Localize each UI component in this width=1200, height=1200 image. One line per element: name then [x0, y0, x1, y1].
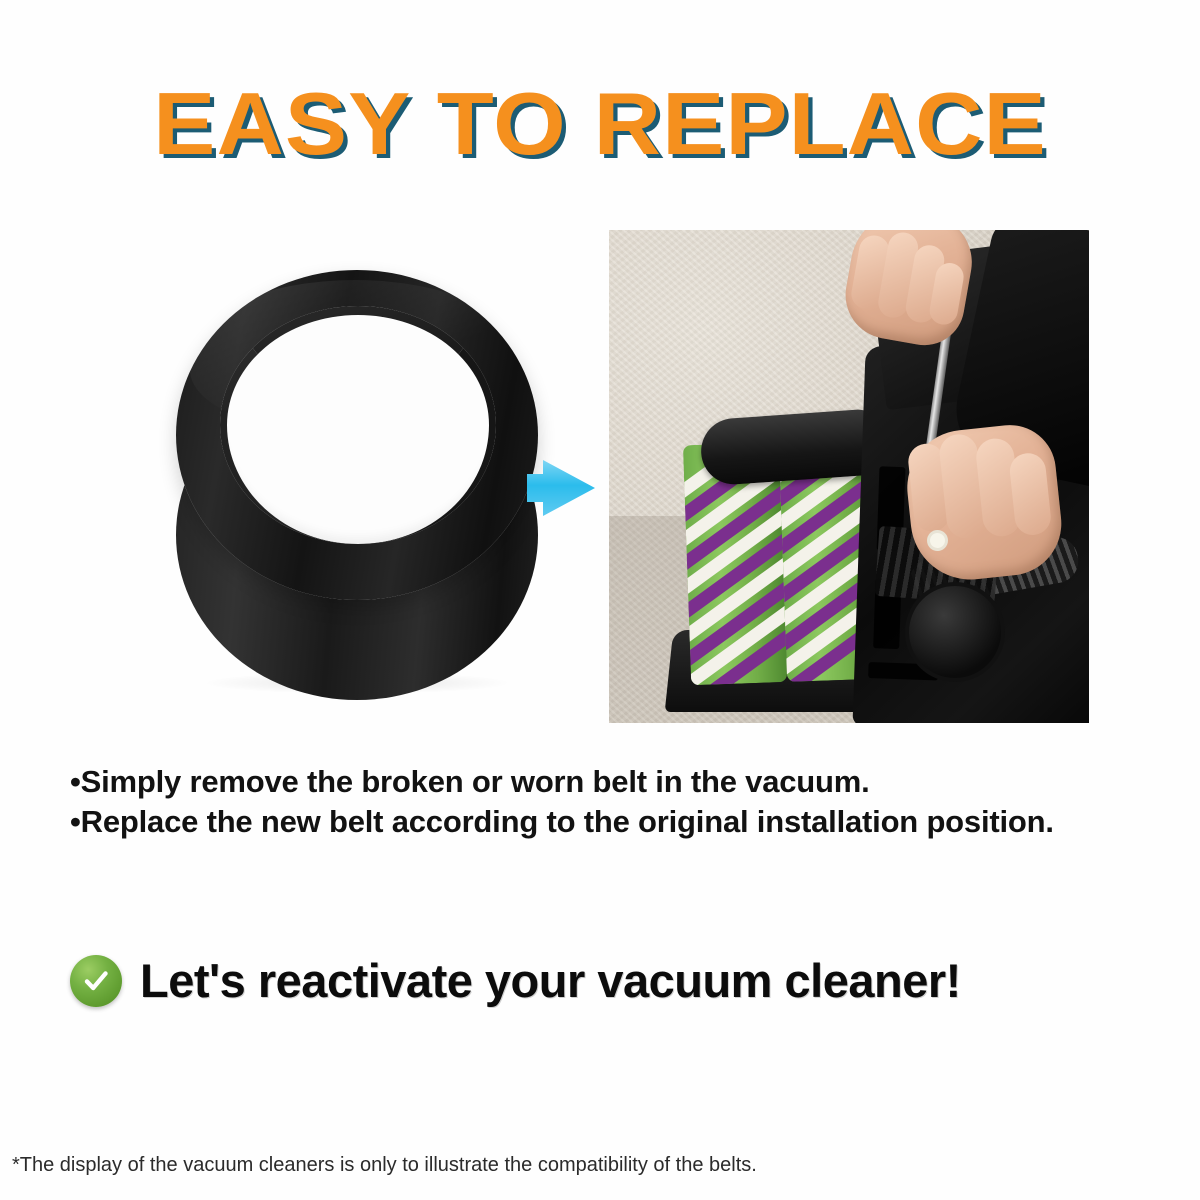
list-item: •Replace the new belt according to the o…: [70, 802, 1140, 842]
cta-line: Let's reactivate your vacuum cleaner!: [70, 955, 961, 1007]
vacuum-repair-image: [609, 230, 1089, 723]
cta-text: Let's reactivate your vacuum cleaner!: [140, 955, 961, 1007]
hand-lower: [902, 421, 1067, 586]
product-feature-page: EASY TO REPLACE: [0, 0, 1200, 1200]
belt-illustration: [150, 240, 550, 710]
check-circle-icon: [70, 955, 122, 1007]
instruction-list: •Simply remove the broken or worn belt i…: [70, 762, 1140, 842]
vacuum-wheel: [905, 582, 1005, 682]
belt-product-image: [150, 240, 550, 710]
arrow-right-icon: [523, 452, 599, 524]
page-title: EASY TO REPLACE: [0, 76, 1200, 172]
belt-inner-rim: [220, 306, 496, 544]
footer-disclaimer: *The display of the vacuum cleaners is o…: [12, 1152, 757, 1178]
list-item: •Simply remove the broken or worn belt i…: [70, 762, 1140, 802]
